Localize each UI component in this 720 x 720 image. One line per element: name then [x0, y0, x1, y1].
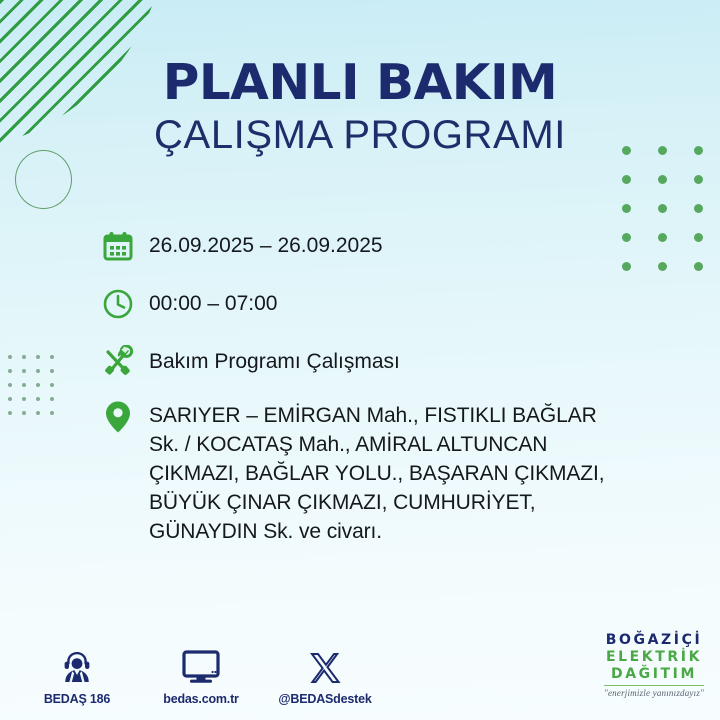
time-range-text: 00:00 – 07:00: [140, 282, 277, 318]
dot: [8, 355, 12, 359]
bedas-logo: BOĞAZİÇİ ELEKTRİK DAĞITIM "enerjimizle y…: [604, 632, 704, 698]
contact-phone-label: BEDAŞ 186: [44, 692, 110, 706]
location-line: Sk. / KOCATAŞ Mah., AMİRAL ALTUNCAN: [149, 433, 547, 456]
dot: [8, 411, 12, 415]
contact-website[interactable]: bedas.com.tr: [158, 645, 244, 706]
dot: [694, 175, 703, 184]
dot: [50, 411, 54, 415]
dot: [36, 411, 40, 415]
brand-line-elektrik: ELEKTRİK: [604, 649, 704, 666]
dot: [36, 383, 40, 387]
location-line: ÇIKMAZI, BAĞLAR YOLU., BAŞARAN ÇIKMAZI,: [149, 462, 605, 485]
dot: [8, 383, 12, 387]
dot: [50, 369, 54, 373]
contact-social-label: @BEDASdestek: [278, 692, 371, 706]
page-title: PLANLI BAKIM: [0, 58, 720, 108]
brand-divider: [604, 685, 704, 686]
dot: [22, 411, 26, 415]
detail-row-work-type: Bakım Programı Çalışması: [96, 340, 676, 384]
dot: [22, 369, 26, 373]
brand-tagline: "enerjimizle yanınızdayız": [604, 688, 704, 698]
tools-icon: [96, 340, 140, 384]
contact-list: BEDAŞ 186 bedas.com.tr: [34, 645, 368, 706]
dot: [36, 369, 40, 373]
page-subtitle: ÇALIŞMA PROGRAMI: [0, 112, 720, 158]
contact-phone[interactable]: BEDAŞ 186: [34, 645, 120, 706]
dot: [36, 397, 40, 401]
dot: [22, 355, 26, 359]
dot: [50, 355, 54, 359]
clock-icon: [96, 282, 140, 326]
x-twitter-icon: [308, 645, 342, 685]
dot: [50, 383, 54, 387]
brand-line-dagitim: DAĞITIM: [604, 666, 704, 683]
dot: [8, 369, 12, 373]
location-line: BÜYÜK ÇINAR ÇIKMAZI, CUMHURİYET,: [149, 491, 536, 514]
planned-maintenance-poster: PLANLI BAKIM ÇALIŞMA PROGRAMI 26: [0, 0, 720, 720]
contact-social[interactable]: @BEDASdestek: [282, 645, 368, 706]
dot: [658, 175, 667, 184]
dot: [22, 397, 26, 401]
dot-grid-left-decoration: [8, 355, 64, 425]
call-center-agent-icon: [60, 645, 94, 685]
location-line: GÜNAYDIN Sk. ve civarı.: [149, 520, 382, 543]
date-range-text: 26.09.2025 – 26.09.2025: [140, 224, 383, 260]
dot: [694, 204, 703, 213]
poster-footer: BEDAŞ 186 bedas.com.tr: [0, 610, 720, 720]
dot: [694, 233, 703, 242]
dot: [50, 397, 54, 401]
circle-outline-decoration: [15, 150, 72, 209]
detail-row-location: SARIYER – EMİRGAN Mah., FISTIKLI BAĞLAR …: [96, 398, 676, 547]
dot: [622, 204, 631, 213]
detail-row-date: 26.09.2025 – 26.09.2025: [96, 224, 676, 268]
dot: [694, 262, 703, 271]
location-text: SARIYER – EMİRGAN Mah., FISTIKLI BAĞLAR …: [140, 398, 605, 547]
detail-row-time: 00:00 – 07:00: [96, 282, 676, 326]
map-pin-icon: [96, 398, 140, 436]
dot: [22, 383, 26, 387]
monitor-icon: [181, 645, 221, 685]
dot: [622, 175, 631, 184]
dot: [658, 204, 667, 213]
contact-website-label: bedas.com.tr: [163, 692, 238, 706]
maintenance-details: 26.09.2025 – 26.09.2025 00:00 – 07:00: [96, 224, 676, 547]
poster-header: PLANLI BAKIM ÇALIŞMA PROGRAMI: [0, 58, 720, 158]
calendar-icon: [96, 224, 140, 268]
brand-line-bogazici: BOĞAZİÇİ: [604, 632, 704, 649]
location-line: SARIYER – EMİRGAN Mah., FISTIKLI BAĞLAR: [149, 404, 597, 427]
dot: [8, 397, 12, 401]
work-type-text: Bakım Programı Çalışması: [140, 340, 400, 376]
dot: [36, 355, 40, 359]
